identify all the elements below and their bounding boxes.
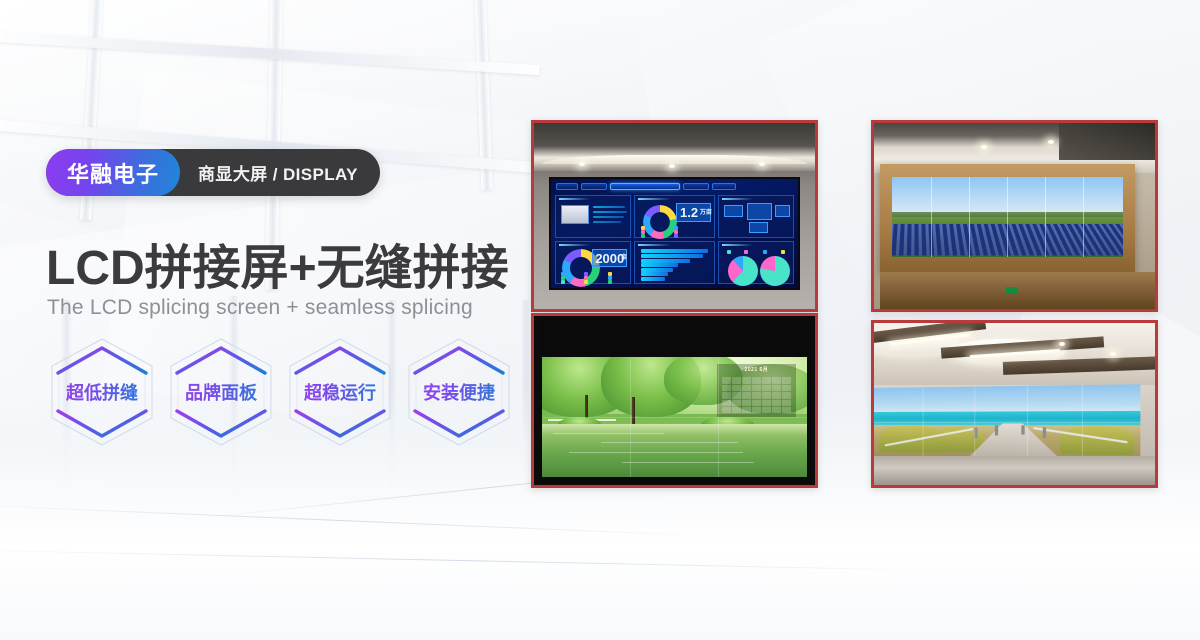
dashboard-panel-grid: 1.2 万亩: [553, 193, 795, 287]
ceiling-dark-panel: [1059, 123, 1155, 160]
donut-chart: [643, 205, 677, 239]
calendar-cell: [722, 385, 731, 391]
photo-dashboard-video-wall: 1.2 万亩: [531, 120, 818, 312]
dashboard-panel-pie-comparison: [718, 241, 793, 284]
calendar-cell: [742, 407, 751, 413]
calendar-cell: [732, 400, 741, 406]
calendar-cell: [772, 377, 781, 383]
feature-hex-3: 超稳运行: [282, 333, 398, 451]
dashboard-panel-flow-diagram: [718, 195, 793, 238]
feature-label: 品牌面板: [163, 379, 279, 405]
brand-name-tag: 华融电子: [46, 149, 180, 196]
dashboard-tab: [683, 183, 709, 190]
water-ripple: [601, 442, 738, 443]
screen-seam: [1045, 177, 1046, 257]
calendar-cell: [732, 407, 741, 413]
calendar-cell: [772, 385, 781, 391]
panel-text-line: [593, 206, 625, 208]
legend-chip: [674, 234, 678, 238]
calendar-cell: [742, 377, 751, 383]
metric-unit: 亩: [621, 252, 627, 261]
floor-line-1: [0, 504, 720, 537]
wood-wall-frame: [880, 164, 1136, 272]
subheadline: The LCD splicing screen + seamless splic…: [47, 296, 473, 320]
calendar-cell: [722, 392, 731, 398]
calendar-cell: [732, 377, 741, 383]
calendar-cell: [742, 385, 751, 391]
metric-value: 2000: [595, 251, 624, 266]
calendar-cell: [762, 377, 771, 383]
calendar-cell: [772, 400, 781, 406]
calendar-cell: [732, 385, 741, 391]
ceiling-spot-light: [579, 162, 585, 166]
dashboard-tab: [581, 183, 607, 190]
dashboard-tab: [556, 183, 577, 190]
ceiling-spot-light: [669, 164, 675, 168]
ranking-bar: [641, 268, 673, 272]
video-wall-screen: 2021 6月: [542, 357, 806, 477]
feature-label: 安装便捷: [401, 379, 517, 405]
legend-chip: [561, 280, 565, 284]
photo-content: 1.2 万亩: [534, 123, 815, 309]
legend-chip: [641, 234, 645, 238]
dashboard-panel-overview: [555, 195, 630, 238]
exit-sign-icon: [1006, 287, 1018, 294]
calendar-cell: [742, 392, 751, 398]
feature-hex-2: 品牌面板: [163, 333, 279, 451]
dashboard-title-tab: [610, 183, 681, 190]
flow-node: [749, 222, 768, 233]
ceiling-spot-light: [1048, 140, 1054, 144]
metric-value: 1.2: [680, 205, 698, 220]
railing-post: [995, 425, 998, 435]
feature-label: 超稳运行: [282, 379, 398, 405]
ranking-bar: [641, 249, 708, 253]
feature-label: 超低拼缝: [44, 379, 160, 405]
panel-text-line: [593, 216, 624, 218]
metric-unit: 万亩: [700, 207, 712, 216]
calendar-cell: [752, 392, 761, 398]
legend-chip: [584, 280, 588, 284]
tree-trunk: [632, 397, 635, 426]
calendar-cell: [782, 400, 791, 406]
calendar-title: 2021 6月: [717, 366, 796, 373]
photo-beach-boardwalk-video-wall: [871, 320, 1158, 488]
dashboard-panel-donut-area: 2000 亩: [555, 241, 630, 284]
panel-text-line: [593, 221, 621, 223]
screen-seam: [874, 422, 1140, 423]
calendar-cell: [752, 407, 761, 413]
dashboard-panel-donut-metric: 1.2 万亩: [634, 195, 715, 238]
calendar-cell: [772, 407, 781, 413]
photo-content: [874, 123, 1155, 309]
ranking-bar: [641, 263, 678, 267]
screen-seam: [969, 177, 970, 257]
pie-chart: [728, 256, 758, 286]
photo-willow-pond-video-wall: 2021 6月: [531, 313, 818, 488]
calendar-cell: [752, 385, 761, 391]
calendar-cell: [722, 377, 731, 383]
photo-content: 2021 6月: [534, 316, 815, 485]
category-tag: 商显大屏 / DISPLAY: [180, 149, 380, 196]
ranking-bar: [641, 272, 668, 276]
flow-node: [747, 203, 772, 220]
water-ripple: [622, 462, 754, 463]
dashboard-panel-bar-ranking: [634, 241, 715, 284]
brand-badge: 华融电子 商显大屏 / DISPLAY: [46, 149, 380, 196]
upper-dark-panels: [540, 319, 810, 354]
flow-node: [775, 205, 790, 217]
feature-hex-4: 安装便捷: [401, 333, 517, 451]
legend-chip: [727, 250, 731, 254]
legend-chip: [744, 250, 748, 254]
feature-list: 超低拼缝 品牌面板 超稳运行: [44, 333, 517, 451]
photo-solar-farm-video-wall: [871, 120, 1158, 312]
calendar-cell: [752, 400, 761, 406]
screen-seam: [1007, 177, 1008, 257]
dashboard-tab: [712, 183, 736, 190]
sky: [874, 384, 1140, 414]
ranking-bar: [641, 277, 665, 281]
calendar-cell: [762, 400, 771, 406]
calendar-overlay: 2021 6月: [717, 364, 796, 417]
railing-post: [1022, 425, 1025, 434]
calendar-cell: [752, 377, 761, 383]
ranking-bar: [641, 254, 703, 258]
panel-text-line: [593, 211, 627, 213]
pie-chart: [760, 256, 790, 286]
calendar-cell: [772, 392, 781, 398]
video-wall-screen: [874, 384, 1140, 459]
calendar-cell: [722, 400, 731, 406]
legend-chip: [608, 280, 612, 284]
water-ripple: [569, 452, 743, 453]
video-wall-screen: [892, 177, 1122, 257]
video-wall-screen: 1.2 万亩: [549, 177, 799, 290]
calendar-cell: [782, 385, 791, 391]
feature-hex-1: 超低拼缝: [44, 333, 160, 451]
calendar-cell: [782, 407, 791, 413]
floor-line-2: [0, 550, 960, 572]
calendar-cell: [722, 407, 731, 413]
water-ripple: [553, 433, 664, 434]
promo-banner: 华融电子 商显大屏 / DISPLAY LCD拼接屏+无缝拼接 The LCD …: [0, 0, 1200, 640]
calendar-cell: [782, 377, 791, 383]
calendar-cell: [732, 392, 741, 398]
flow-node: [724, 205, 743, 217]
calendar-cell: [762, 385, 771, 391]
headline: LCD拼接屏+无缝拼接: [46, 228, 509, 298]
legend-chip: [781, 250, 785, 254]
lobby-floor: [874, 456, 1155, 485]
photo-content: [874, 323, 1155, 485]
legend-chip: [763, 250, 767, 254]
screen-seam: [542, 417, 806, 418]
pond-water: [542, 424, 806, 477]
screen-seam: [1083, 177, 1084, 257]
calendar-cell: [782, 392, 791, 398]
dashboard-topbar: [553, 181, 795, 193]
calendar-cell: [762, 407, 771, 413]
calendar-cell: [742, 400, 751, 406]
calendar-grid: [722, 377, 792, 413]
ceiling-spot-light: [759, 162, 765, 166]
panel-thumb: [561, 205, 589, 224]
screen-seam: [931, 177, 932, 257]
calendar-cell: [762, 392, 771, 398]
ranking-bar: [641, 259, 690, 263]
